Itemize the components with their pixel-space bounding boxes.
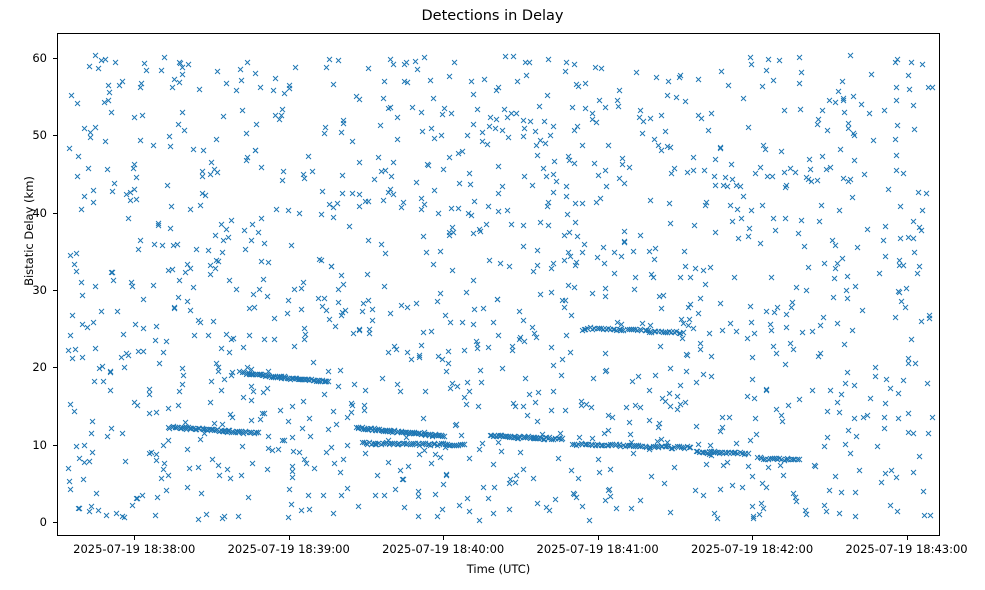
scatter-marker: [405, 304, 412, 311]
scatter-marker: [373, 440, 380, 447]
scatter-marker: [395, 428, 402, 435]
scatter-marker: [438, 440, 445, 447]
scatter-marker: [276, 374, 283, 381]
x-tick-label: 2025-07-19 18:43:00: [845, 542, 967, 556]
scatter-marker: [668, 403, 675, 410]
scatter-marker: [292, 375, 299, 382]
scatter-marker: [285, 514, 292, 521]
scatter-marker: [571, 491, 578, 498]
scatter-marker: [594, 254, 601, 261]
scatter-marker: [508, 110, 515, 117]
scatter-marker: [391, 428, 398, 435]
scatter-marker: [621, 238, 628, 245]
scatter-marker: [319, 303, 326, 310]
scatter-marker: [759, 480, 766, 487]
scatter-marker: [269, 447, 276, 454]
scatter-marker: [664, 92, 671, 99]
scatter-marker: [511, 434, 518, 441]
scatter-marker: [638, 443, 645, 450]
scatter-marker: [605, 142, 612, 149]
scatter-marker: [300, 279, 307, 286]
scatter-marker: [261, 410, 268, 417]
scatter-marker: [224, 429, 231, 436]
scatter-marker: [187, 307, 194, 314]
scatter-marker: [541, 118, 548, 125]
scatter-marker: [573, 442, 580, 449]
scatter-marker: [468, 78, 475, 85]
scatter-marker: [227, 475, 234, 482]
scatter-marker: [896, 262, 903, 269]
scatter-marker: [685, 322, 692, 329]
scatter-marker: [711, 448, 718, 455]
scatter-marker: [75, 505, 82, 512]
scatter-marker: [430, 95, 437, 102]
scatter-marker: [820, 314, 827, 321]
scatter-marker: [361, 425, 368, 432]
scatter-marker: [797, 106, 804, 113]
scatter-marker: [440, 166, 447, 173]
scatter-marker: [263, 372, 270, 379]
scatter-marker: [789, 299, 796, 306]
scatter-marker: [908, 336, 915, 343]
scatter-marker: [543, 504, 550, 511]
scatter-marker: [491, 432, 498, 439]
scatter-marker: [278, 373, 285, 380]
scatter-marker: [327, 201, 334, 208]
scatter-marker: [233, 87, 240, 94]
scatter-marker: [830, 294, 837, 301]
scatter-marker: [695, 441, 702, 448]
scatter-marker: [562, 68, 569, 75]
scatter-marker: [844, 295, 851, 302]
scatter-marker: [915, 189, 922, 196]
scatter-marker: [78, 206, 85, 213]
scatter-marker: [146, 386, 153, 393]
scatter-marker: [550, 436, 557, 443]
scatter-marker: [668, 445, 675, 452]
scatter-marker: [82, 442, 89, 449]
scatter-marker: [196, 86, 203, 93]
scatter-marker: [276, 373, 283, 380]
scatter-marker: [309, 376, 316, 383]
scatter-marker: [278, 375, 285, 382]
scatter-marker: [779, 418, 786, 425]
scatter-marker: [299, 507, 306, 514]
scatter-marker: [476, 446, 483, 453]
scatter-marker: [603, 367, 610, 374]
scatter-marker: [616, 87, 623, 94]
scatter-marker: [669, 445, 676, 452]
scatter-marker: [745, 450, 752, 457]
scatter-marker: [299, 425, 306, 432]
scatter-marker: [474, 338, 481, 345]
scatter-marker: [387, 186, 394, 193]
scatter-marker: [218, 221, 225, 228]
scatter-marker: [895, 390, 902, 397]
scatter-marker: [647, 197, 654, 204]
scatter-marker: [821, 502, 828, 509]
scatter-marker: [764, 67, 771, 74]
scatter-marker: [79, 292, 86, 299]
scatter-marker: [745, 233, 752, 240]
scatter-marker: [584, 325, 591, 332]
scatter-marker: [796, 396, 803, 403]
scatter-marker: [845, 120, 852, 127]
scatter-marker: [626, 326, 633, 333]
scatter-marker: [843, 441, 850, 448]
scatter-marker: [375, 440, 382, 447]
scatter-marker: [134, 402, 141, 409]
scatter-marker: [86, 458, 93, 465]
x-tick-mark: [752, 536, 753, 540]
scatter-marker: [164, 182, 171, 189]
y-tick-label: 60: [0, 51, 47, 65]
scatter-marker: [824, 127, 831, 134]
scatter-marker: [847, 52, 854, 59]
scatter-marker: [323, 378, 330, 385]
scatter-marker: [619, 161, 626, 168]
scatter-marker: [838, 391, 845, 398]
scatter-marker: [761, 456, 768, 463]
scatter-marker: [216, 364, 223, 371]
scatter-marker: [171, 423, 178, 430]
scatter-marker: [790, 456, 797, 463]
scatter-marker: [287, 486, 294, 493]
scatter-marker: [521, 338, 528, 345]
scatter-marker: [485, 495, 492, 502]
scatter-marker: [649, 473, 656, 480]
scatter-marker: [897, 203, 904, 210]
scatter-marker: [571, 127, 578, 134]
scatter-marker: [181, 424, 188, 431]
scatter-marker: [893, 152, 900, 159]
scatter-marker: [401, 504, 408, 511]
scatter-marker: [335, 57, 342, 64]
scatter-marker: [420, 233, 427, 240]
scatter-marker: [892, 59, 899, 66]
scatter-marker: [703, 461, 710, 468]
scatter-marker: [882, 223, 889, 230]
scatter-marker: [717, 449, 724, 456]
scatter-marker: [803, 174, 810, 181]
scatter-marker: [460, 148, 467, 155]
scatter-marker: [840, 95, 847, 102]
scatter-marker: [301, 336, 308, 343]
scatter-marker: [295, 376, 302, 383]
scatter-marker: [806, 156, 813, 163]
scatter-marker: [856, 467, 863, 474]
scatter-marker: [108, 369, 115, 376]
scatter-marker: [566, 153, 573, 160]
scatter-marker: [712, 510, 719, 517]
scatter-marker: [401, 78, 408, 85]
scatter-marker: [524, 412, 531, 419]
scatter-marker: [179, 109, 186, 116]
scatter-marker: [412, 440, 419, 447]
scatter-marker: [121, 514, 128, 521]
scatter-marker: [221, 427, 228, 434]
scatter-marker: [711, 173, 718, 180]
scatter-marker: [409, 441, 416, 448]
scatter-marker: [621, 180, 628, 187]
scatter-marker: [632, 402, 639, 409]
scatter-marker: [344, 485, 351, 492]
scatter-marker: [461, 441, 468, 448]
scatter-marker: [498, 448, 505, 455]
scatter-marker: [545, 222, 552, 229]
scatter-marker: [668, 144, 675, 151]
scatter-marker: [535, 389, 542, 396]
scatter-marker: [579, 327, 586, 334]
scatter-marker: [251, 371, 258, 378]
scatter-marker: [700, 371, 707, 378]
scatter-marker: [502, 53, 509, 60]
scatter-marker: [525, 433, 532, 440]
scatter-marker: [520, 222, 527, 229]
scatter-marker: [382, 428, 389, 435]
scatter-marker: [690, 167, 697, 174]
scatter-marker: [712, 156, 719, 163]
scatter-marker: [186, 465, 193, 472]
scatter-marker: [705, 127, 712, 134]
scatter-marker: [784, 455, 791, 462]
scatter-marker: [278, 112, 285, 119]
scatter-marker: [609, 441, 616, 448]
scatter-marker: [568, 467, 575, 474]
scatter-marker: [356, 203, 363, 210]
scatter-marker: [226, 234, 233, 241]
scatter-marker: [459, 319, 466, 326]
scatter-marker: [373, 441, 380, 448]
scatter-marker: [846, 125, 853, 132]
scatter-marker: [640, 118, 647, 125]
scatter-marker: [616, 326, 623, 333]
scatter-marker: [542, 140, 549, 147]
scatter-marker: [74, 100, 81, 107]
scatter-marker: [221, 376, 228, 383]
scatter-marker: [642, 443, 649, 450]
scatter-marker: [895, 288, 902, 295]
scatter-marker: [619, 155, 626, 162]
scatter-marker: [244, 154, 251, 161]
scatter-marker: [881, 425, 888, 432]
scatter-marker: [320, 492, 327, 499]
scatter-marker: [521, 433, 528, 440]
scatter-marker: [898, 298, 905, 305]
scatter-marker: [827, 164, 834, 171]
scatter-marker: [237, 428, 244, 435]
scatter-marker: [258, 215, 265, 222]
scatter-marker: [359, 424, 366, 431]
scatter-marker: [535, 435, 542, 442]
scatter-marker: [575, 441, 582, 448]
scatter-marker: [729, 218, 736, 225]
scatter-marker: [429, 432, 436, 439]
scatter-marker: [468, 212, 475, 219]
scatter-marker: [471, 277, 478, 284]
scatter-marker: [314, 377, 321, 384]
scatter-marker: [272, 373, 279, 380]
scatter-marker: [437, 248, 444, 255]
scatter-marker: [134, 495, 141, 502]
scatter-marker: [696, 449, 703, 456]
scatter-marker: [211, 420, 218, 427]
scatter-marker: [558, 436, 565, 443]
scatter-marker: [506, 434, 513, 441]
scatter-marker: [849, 327, 856, 334]
scatter-marker: [215, 462, 222, 469]
scatter-marker: [850, 93, 857, 100]
scatter-marker: [279, 437, 286, 444]
scatter-marker: [415, 440, 422, 447]
scatter-marker: [365, 297, 372, 304]
scatter-marker: [207, 271, 214, 278]
scatter-marker: [230, 414, 237, 421]
scatter-marker: [129, 502, 136, 509]
scatter-marker: [509, 434, 516, 441]
scatter-marker: [95, 65, 102, 72]
scatter-marker: [756, 511, 763, 518]
scatter-marker: [495, 332, 502, 339]
scatter-marker: [388, 428, 395, 435]
scatter-marker: [380, 95, 387, 102]
scatter-marker: [323, 64, 330, 71]
scatter-marker: [281, 373, 288, 380]
scatter-marker: [356, 327, 363, 334]
scatter-marker: [246, 305, 253, 312]
scatter-marker: [647, 417, 654, 424]
scatter-marker: [199, 173, 206, 180]
scatter-marker: [550, 362, 557, 369]
scatter-marker: [728, 449, 735, 456]
scatter-marker: [75, 153, 82, 160]
scatter-marker: [514, 472, 521, 479]
scatter-marker: [522, 59, 529, 66]
scatter-marker: [179, 365, 186, 372]
scatter-marker: [137, 237, 144, 244]
scatter-marker: [749, 473, 756, 480]
scatter-marker: [307, 433, 314, 440]
scatter-marker: [616, 441, 623, 448]
scatter-marker: [546, 507, 553, 514]
scatter-marker: [852, 489, 859, 496]
scatter-marker: [249, 221, 256, 228]
scatter-marker: [596, 325, 603, 332]
scatter-marker: [372, 427, 379, 434]
scatter-marker: [387, 104, 394, 111]
scatter-marker: [158, 475, 165, 482]
scatter-marker: [109, 269, 116, 276]
scatter-marker: [333, 421, 340, 428]
scatter-marker: [252, 70, 259, 77]
scatter-marker: [571, 284, 578, 291]
scatter-marker: [684, 169, 691, 176]
scatter-marker: [905, 234, 912, 241]
scatter-marker: [270, 374, 277, 381]
scatter-marker: [782, 107, 789, 114]
scatter-marker: [832, 242, 839, 249]
scatter-marker: [229, 369, 236, 376]
scatter-marker: [513, 434, 520, 441]
scatter-marker: [834, 260, 841, 267]
scatter-marker: [106, 89, 113, 96]
scatter-marker: [353, 93, 360, 100]
scatter-marker: [195, 516, 202, 523]
scatter-marker: [449, 442, 456, 449]
scatter-marker: [146, 391, 153, 398]
scatter-marker: [492, 125, 499, 132]
scatter-marker: [180, 64, 187, 71]
scatter-marker: [764, 173, 771, 180]
scatter-marker: [639, 443, 646, 450]
scatter-marker: [282, 374, 289, 381]
scatter-marker: [924, 380, 931, 387]
scatter-marker: [399, 476, 406, 483]
scatter-marker: [321, 130, 328, 137]
scatter-marker: [232, 429, 239, 436]
scatter-marker: [707, 264, 714, 271]
scatter-marker: [287, 376, 294, 383]
scatter-marker: [832, 99, 839, 106]
scatter-marker: [456, 180, 463, 187]
scatter-marker: [454, 383, 461, 390]
scatter-marker: [475, 106, 482, 113]
scatter-marker: [197, 202, 204, 209]
scatter-marker: [306, 377, 313, 384]
scatter-marker: [260, 372, 267, 379]
scatter-marker: [239, 429, 246, 436]
scatter-marker: [591, 160, 598, 167]
scatter-marker: [328, 263, 335, 270]
scatter-marker: [717, 145, 724, 152]
scatter-marker: [274, 374, 281, 381]
scatter-marker: [556, 455, 563, 462]
scatter-marker: [782, 215, 789, 222]
scatter-marker: [676, 330, 683, 337]
scatter-marker: [819, 153, 826, 160]
scatter-marker: [351, 381, 358, 388]
scatter-marker: [165, 405, 172, 412]
scatter-marker: [918, 318, 925, 325]
scatter-marker: [751, 330, 758, 337]
scatter-marker: [809, 328, 816, 335]
scatter-marker: [455, 442, 462, 449]
scatter-marker: [431, 440, 438, 447]
scatter-marker: [613, 505, 620, 512]
scatter-marker: [400, 476, 407, 483]
scatter-marker: [446, 73, 453, 80]
scatter-marker: [340, 117, 347, 124]
scatter-marker: [296, 376, 303, 383]
scatter-marker: [396, 440, 403, 447]
scatter-marker: [190, 425, 197, 432]
scatter-marker: [119, 78, 126, 85]
scatter-marker: [238, 77, 245, 84]
scatter-marker: [633, 69, 640, 76]
scatter-marker: [589, 290, 596, 297]
scatter-marker: [72, 346, 79, 353]
scatter-marker: [427, 431, 434, 438]
scatter-marker: [568, 312, 575, 319]
scatter-marker: [646, 387, 653, 394]
scatter-marker: [415, 513, 422, 520]
scatter-marker: [768, 274, 775, 281]
scatter-marker: [425, 162, 432, 169]
scatter-marker: [708, 452, 715, 459]
scatter-marker: [769, 455, 776, 462]
scatter-marker: [258, 371, 265, 378]
scatter-marker: [262, 373, 269, 380]
